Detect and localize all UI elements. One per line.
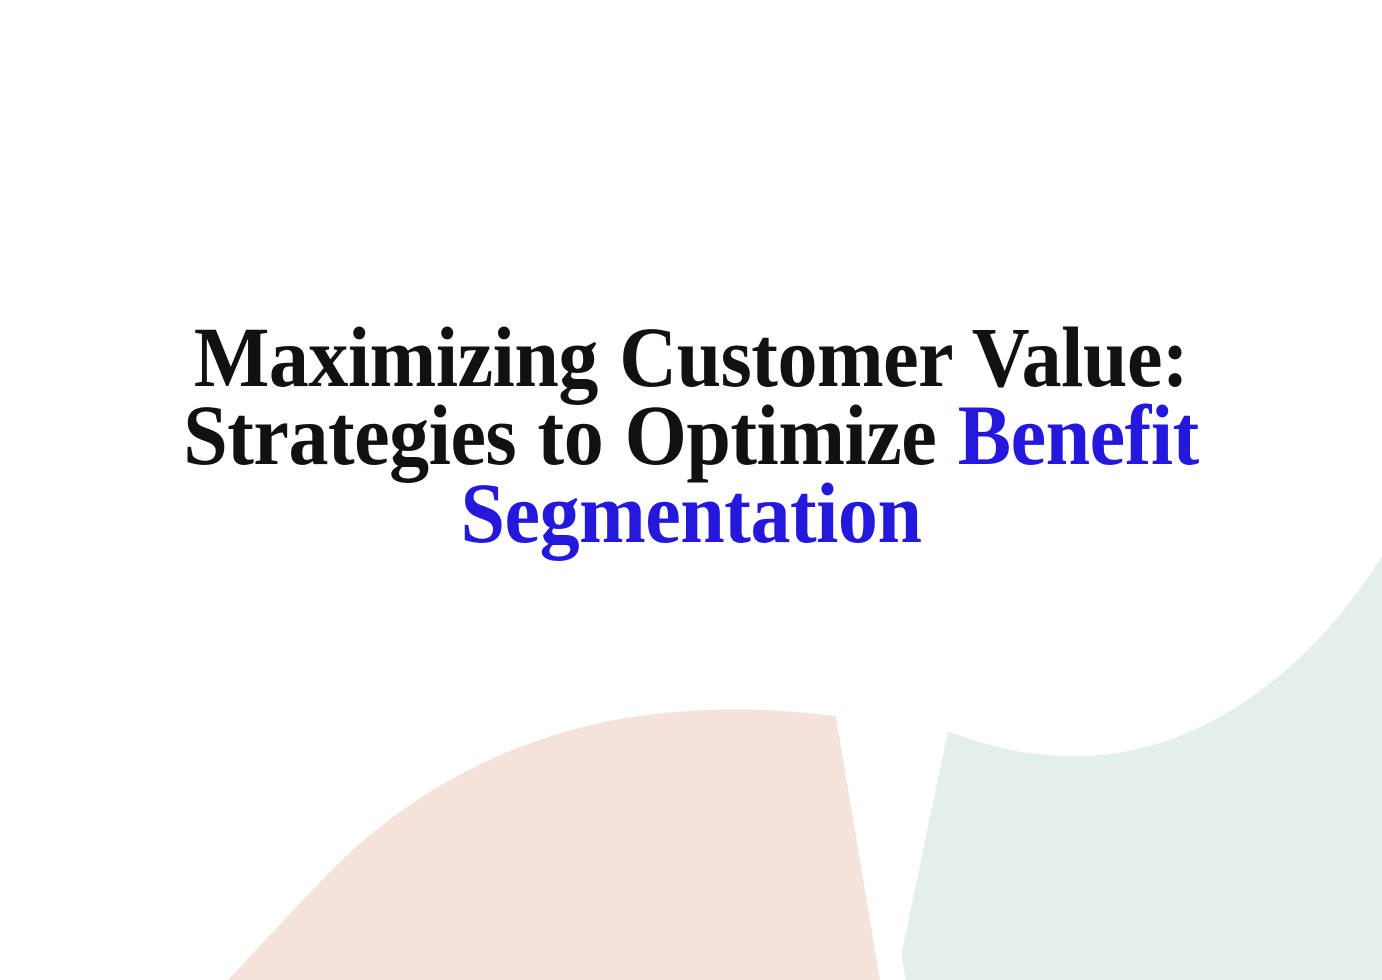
title-block: Maximizing Customer Value: Strategies to… bbox=[0, 318, 1382, 552]
page-title: Maximizing Customer Value: Strategies to… bbox=[48, 318, 1333, 552]
slide-canvas: Maximizing Customer Value: Strategies to… bbox=[0, 0, 1382, 980]
mint-blob-shape bbox=[896, 556, 1382, 980]
white-diagonal-gap-shape bbox=[836, 716, 906, 980]
blush-ellipse-shape bbox=[228, 709, 905, 980]
